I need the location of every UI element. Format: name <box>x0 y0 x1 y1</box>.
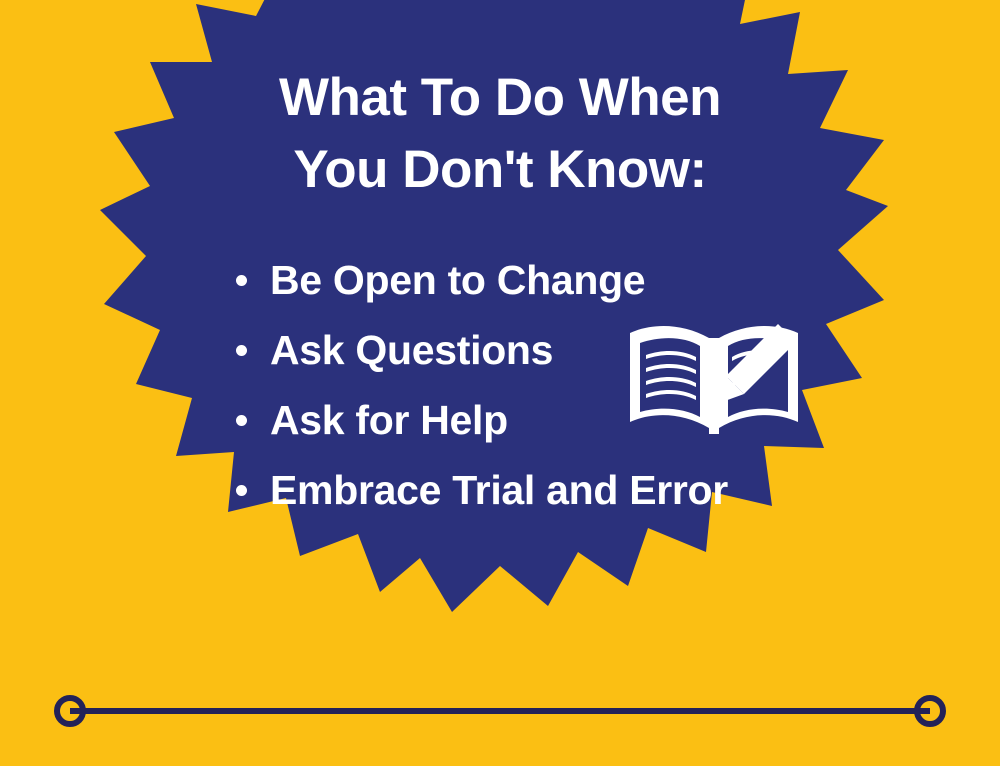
poster-canvas: What To Do When You Don't Know: Be Open … <box>0 0 1000 766</box>
list-item-label: Ask Questions <box>270 327 553 373</box>
list-item: Embrace Trial and Error <box>232 455 932 525</box>
book-line-left-3 <box>646 377 696 387</box>
list-item-label: Be Open to Change <box>270 257 645 303</box>
bullet-dot-icon <box>236 485 247 496</box>
advice-list: Be Open to Change Ask Questions Ask for … <box>232 245 932 525</box>
list-item: Be Open to Change <box>232 245 932 315</box>
list-item: Ask Questions <box>232 315 932 385</box>
page-title-line-2: You Don't Know: <box>0 134 1000 206</box>
content-layer: What To Do When You Don't Know: Be Open … <box>0 0 1000 766</box>
book-spine <box>709 338 719 434</box>
book-left-page <box>630 326 709 428</box>
bullet-dot-icon <box>236 275 247 286</box>
list-item: Ask for Help <box>232 385 932 455</box>
page-title: What To Do When You Don't Know: <box>0 62 1000 206</box>
list-item-label: Embrace Trial and Error <box>270 467 728 513</box>
bullet-dot-icon <box>236 415 247 426</box>
book-line-left-4 <box>646 390 696 400</box>
open-book-with-pencil-icon <box>626 316 802 446</box>
horizontal-rule-with-circle-endpoints <box>48 686 952 736</box>
book-line-left-1 <box>646 351 696 361</box>
bullet-dot-icon <box>236 345 247 356</box>
list-item-label: Ask for Help <box>270 397 508 443</box>
book-line-left-2 <box>646 364 696 374</box>
page-title-line-1: What To Do When <box>0 62 1000 134</box>
